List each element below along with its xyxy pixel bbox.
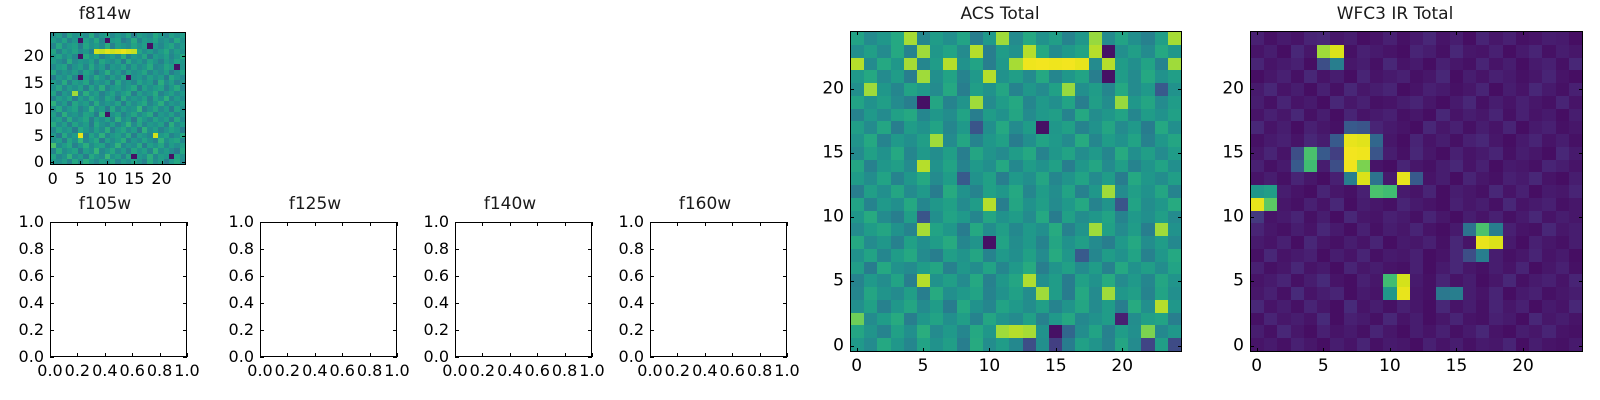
x-tick-label: 0.2 [275, 363, 300, 379]
y-tick-mark-right [182, 109, 186, 110]
x-tick-label: 0.2 [470, 363, 495, 379]
y-tick-mark [260, 249, 264, 250]
x-tick-mark [162, 161, 163, 165]
y-tick-mark-right [1579, 217, 1583, 218]
x-tick-mark-top [1056, 31, 1057, 35]
x-tick-mark-top [80, 32, 81, 36]
x-tick-mark-top [857, 31, 858, 35]
x-tick-mark-top [107, 32, 108, 36]
y-tick-mark [50, 222, 54, 223]
panel-title-f125w: f125w [210, 196, 420, 213]
y-tick-mark-right [588, 330, 592, 331]
x-tick-mark [989, 348, 990, 352]
y-tick-label: 10 [0, 101, 44, 117]
x-tick-mark-top [187, 222, 188, 226]
x-tick-mark [134, 161, 135, 165]
y-tick-label: 0.8 [405, 241, 449, 257]
x-tick-mark [732, 353, 733, 357]
y-tick-mark-right [588, 357, 592, 358]
x-tick-label: 20 [1512, 358, 1534, 375]
y-tick-mark [850, 346, 854, 347]
y-tick-mark [50, 162, 54, 163]
x-tick-label: 0.4 [497, 363, 522, 379]
panel-f160w: f160w 0.00.20.40.60.81.00.00.20.40.60.81… [600, 190, 810, 400]
x-tick-label: 15 [1045, 358, 1067, 375]
y-tick-label: 0.4 [0, 295, 44, 311]
y-tick-mark [260, 276, 264, 277]
axes-acs-total [850, 31, 1182, 352]
x-tick-mark [342, 353, 343, 357]
x-tick-mark [107, 161, 108, 165]
y-tick-mark [50, 303, 54, 304]
x-tick-mark-top [105, 222, 106, 226]
x-tick-mark [923, 348, 924, 352]
y-tick-mark [50, 136, 54, 137]
x-tick-mark [187, 353, 188, 357]
y-tick-mark-right [783, 276, 787, 277]
x-tick-mark-top [677, 222, 678, 226]
x-tick-mark [565, 353, 566, 357]
y-tick-mark-right [393, 357, 397, 358]
x-tick-label: 0.2 [665, 363, 690, 379]
y-tick-label: 0.0 [0, 349, 44, 365]
y-tick-label: 0.4 [600, 295, 644, 311]
x-tick-label: 0.4 [692, 363, 717, 379]
x-tick-mark-top [1456, 31, 1457, 35]
x-tick-label: 0.8 [747, 363, 772, 379]
x-tick-label: 0 [1251, 358, 1262, 375]
x-tick-label: 0.8 [357, 363, 382, 379]
y-tick-label: 0.2 [405, 322, 449, 338]
y-tick-label: 5 [800, 273, 844, 290]
y-tick-label: 15 [800, 144, 844, 161]
y-tick-label: 1.0 [600, 214, 644, 230]
x-tick-label: 0.4 [302, 363, 327, 379]
y-tick-label: 10 [1190, 209, 1244, 226]
axes-f160w [650, 222, 787, 357]
y-tick-mark [50, 249, 54, 250]
y-tick-mark-right [182, 56, 186, 57]
x-tick-label: 10 [97, 171, 117, 187]
y-tick-mark [260, 357, 264, 358]
panel-title-wfc3-ir-total: WFC3 IR Total [1190, 6, 1600, 23]
y-tick-mark-right [1178, 217, 1182, 218]
x-tick-mark [592, 353, 593, 357]
y-tick-label: 5 [1190, 273, 1244, 290]
axes-f814w [50, 32, 186, 165]
x-tick-mark [370, 353, 371, 357]
y-tick-mark [650, 330, 654, 331]
y-tick-mark-right [393, 330, 397, 331]
y-tick-label: 5 [0, 128, 44, 144]
y-tick-mark-right [588, 249, 592, 250]
y-tick-mark [650, 276, 654, 277]
x-tick-mark [1122, 348, 1123, 352]
x-tick-label: 0.8 [552, 363, 577, 379]
y-tick-label: 1.0 [405, 214, 449, 230]
x-tick-mark-top [162, 32, 163, 36]
x-tick-label: 5 [918, 358, 929, 375]
x-tick-mark-top [705, 222, 706, 226]
x-tick-mark [677, 353, 678, 357]
y-tick-label: 0.8 [0, 241, 44, 257]
y-tick-mark-right [1579, 346, 1583, 347]
y-tick-mark-right [783, 249, 787, 250]
heatmap-image-f814w [51, 33, 185, 164]
y-tick-mark-right [783, 222, 787, 223]
y-tick-mark-right [183, 249, 187, 250]
x-tick-label: 0.6 [524, 363, 549, 379]
y-tick-label: 10 [800, 209, 844, 226]
y-tick-label: 0.6 [0, 268, 44, 284]
y-tick-mark [650, 303, 654, 304]
y-tick-mark-right [588, 276, 592, 277]
y-tick-label: 1.0 [210, 214, 254, 230]
x-tick-mark [705, 353, 706, 357]
x-tick-mark [1257, 348, 1258, 352]
x-tick-mark-top [482, 222, 483, 226]
y-tick-label: 0.2 [600, 322, 644, 338]
y-tick-mark-right [1178, 89, 1182, 90]
x-tick-label: 1.0 [774, 363, 799, 379]
x-tick-mark-top [397, 222, 398, 226]
x-tick-mark-top [1523, 31, 1524, 35]
x-tick-label: 20 [151, 171, 171, 187]
y-tick-mark [850, 89, 854, 90]
x-tick-mark-top [53, 32, 54, 36]
x-tick-mark-top [1122, 31, 1123, 35]
panel-wfc3-ir-total: WFC3 IR Total 0510152005101520 [1190, 0, 1600, 400]
x-tick-mark [537, 353, 538, 357]
x-tick-mark [1523, 348, 1524, 352]
y-tick-mark-right [1178, 153, 1182, 154]
x-tick-label: 0.4 [92, 363, 117, 379]
y-tick-mark-right [183, 276, 187, 277]
y-tick-mark-right [183, 303, 187, 304]
y-tick-mark-right [182, 136, 186, 137]
y-tick-label: 15 [0, 75, 44, 91]
x-tick-mark [1323, 348, 1324, 352]
y-tick-mark-right [1579, 89, 1583, 90]
x-tick-mark-top [537, 222, 538, 226]
panel-title-f160w: f160w [600, 196, 810, 213]
y-tick-label: 0.6 [405, 268, 449, 284]
x-tick-mark-top [370, 222, 371, 226]
y-tick-mark-right [182, 162, 186, 163]
x-tick-mark-top [989, 31, 990, 35]
axes-f105w [50, 222, 187, 357]
y-tick-mark [650, 249, 654, 250]
x-tick-label: 15 [1446, 358, 1468, 375]
x-tick-mark-top [342, 222, 343, 226]
x-tick-mark [1456, 348, 1457, 352]
x-tick-mark-top [732, 222, 733, 226]
y-tick-mark [455, 222, 459, 223]
axes-f125w [260, 222, 397, 357]
x-tick-label: 0.2 [65, 363, 90, 379]
x-tick-mark [287, 353, 288, 357]
y-tick-mark [50, 83, 54, 84]
y-tick-mark [260, 222, 264, 223]
y-tick-label: 0.0 [210, 349, 254, 365]
x-tick-mark-top [1257, 31, 1258, 35]
y-tick-mark [50, 357, 54, 358]
y-tick-mark [1250, 217, 1254, 218]
y-tick-mark [455, 330, 459, 331]
x-tick-mark-top [565, 222, 566, 226]
x-tick-mark-top [923, 31, 924, 35]
y-tick-mark [455, 249, 459, 250]
y-tick-mark-right [1579, 153, 1583, 154]
y-tick-label: 0.2 [0, 322, 44, 338]
y-tick-label: 20 [1190, 80, 1244, 97]
y-tick-label: 0.8 [210, 241, 254, 257]
x-tick-mark [77, 353, 78, 357]
y-tick-label: 0.8 [600, 241, 644, 257]
x-tick-mark-top [315, 222, 316, 226]
x-tick-mark [315, 353, 316, 357]
y-tick-mark [650, 222, 654, 223]
y-tick-mark-right [393, 249, 397, 250]
y-tick-label: 0.0 [600, 349, 644, 365]
y-tick-mark-right [588, 222, 592, 223]
panel-acs-total: ACS Total 0510152005101520 [800, 0, 1200, 400]
y-tick-mark-right [393, 303, 397, 304]
y-tick-mark [650, 357, 654, 358]
x-tick-label: 0.6 [329, 363, 354, 379]
x-tick-label: 0.6 [719, 363, 744, 379]
heatmap-image-acs-total [851, 32, 1181, 351]
panel-title-f140w: f140w [405, 196, 615, 213]
y-tick-label: 0 [800, 337, 844, 354]
y-tick-label: 1.0 [0, 214, 44, 230]
y-tick-mark-right [783, 357, 787, 358]
x-tick-mark [482, 353, 483, 357]
x-tick-label: 10 [979, 358, 1001, 375]
x-tick-label: 1.0 [174, 363, 199, 379]
panel-title-acs-total: ACS Total [800, 6, 1200, 23]
y-tick-label: 0.6 [600, 268, 644, 284]
axes-f140w [455, 222, 592, 357]
x-tick-mark-top [1323, 31, 1324, 35]
y-tick-mark [1250, 89, 1254, 90]
x-tick-mark-top [132, 222, 133, 226]
panel-f125w: f125w 0.00.20.40.60.81.00.00.20.40.60.81… [210, 190, 420, 400]
x-tick-mark-top [1390, 31, 1391, 35]
y-tick-mark [455, 357, 459, 358]
y-tick-mark [1250, 346, 1254, 347]
y-tick-label: 20 [800, 80, 844, 97]
y-tick-mark-right [1579, 281, 1583, 282]
matplotlib-figure: f814w 0510152005101520 f105w 0.00.20.40.… [0, 0, 1600, 400]
x-tick-mark-top [510, 222, 511, 226]
x-tick-label: 10 [1379, 358, 1401, 375]
x-tick-mark-top [287, 222, 288, 226]
x-tick-label: 0 [851, 358, 862, 375]
x-tick-mark [510, 353, 511, 357]
panel-title-f105w: f105w [0, 196, 210, 213]
x-tick-mark [80, 161, 81, 165]
panel-f814w: f814w 0510152005101520 [0, 0, 210, 190]
x-tick-label: 0.6 [119, 363, 144, 379]
y-tick-mark [50, 330, 54, 331]
y-tick-mark [260, 330, 264, 331]
y-tick-mark [50, 276, 54, 277]
x-tick-mark [1390, 348, 1391, 352]
x-tick-label: 5 [1318, 358, 1329, 375]
y-tick-mark-right [183, 330, 187, 331]
y-tick-mark [50, 109, 54, 110]
y-tick-label: 0.0 [405, 349, 449, 365]
x-tick-label: 20 [1111, 358, 1133, 375]
y-tick-mark-right [393, 276, 397, 277]
x-tick-mark [105, 353, 106, 357]
x-tick-mark-top [787, 222, 788, 226]
y-tick-mark [850, 281, 854, 282]
y-tick-mark-right [183, 222, 187, 223]
x-tick-mark [160, 353, 161, 357]
x-tick-mark [857, 348, 858, 352]
x-tick-mark-top [134, 32, 135, 36]
y-tick-mark [455, 276, 459, 277]
x-tick-mark-top [77, 222, 78, 226]
y-tick-mark-right [183, 357, 187, 358]
x-tick-mark-top [160, 222, 161, 226]
x-tick-label: 0 [48, 171, 58, 187]
y-tick-mark [1250, 153, 1254, 154]
x-tick-mark [1056, 348, 1057, 352]
x-tick-mark-top [760, 222, 761, 226]
y-tick-label: 0.2 [210, 322, 254, 338]
y-tick-mark-right [783, 303, 787, 304]
x-tick-mark [132, 353, 133, 357]
y-tick-mark [50, 56, 54, 57]
y-tick-mark [1250, 281, 1254, 282]
y-tick-mark [455, 303, 459, 304]
x-tick-label: 15 [124, 171, 144, 187]
y-tick-mark-right [783, 330, 787, 331]
panel-title-f814w: f814w [0, 6, 210, 23]
x-tick-mark [760, 353, 761, 357]
y-tick-label: 20 [0, 48, 44, 64]
y-tick-label: 0.4 [210, 295, 254, 311]
y-tick-mark [850, 153, 854, 154]
y-tick-mark-right [393, 222, 397, 223]
y-tick-mark [850, 217, 854, 218]
y-tick-label: 0 [1190, 337, 1244, 354]
panel-f140w: f140w 0.00.20.40.60.81.00.00.20.40.60.81… [405, 190, 615, 400]
y-tick-mark-right [1178, 346, 1182, 347]
x-tick-label: 0.8 [147, 363, 172, 379]
heatmap-image-wfc3-ir-total [1251, 32, 1582, 351]
x-tick-mark-top [592, 222, 593, 226]
axes-wfc3-ir-total [1250, 31, 1583, 352]
y-tick-mark [260, 303, 264, 304]
y-tick-mark-right [1178, 281, 1182, 282]
y-tick-label: 15 [1190, 144, 1244, 161]
x-tick-label: 5 [75, 171, 85, 187]
x-tick-mark [397, 353, 398, 357]
y-tick-label: 0.6 [210, 268, 254, 284]
y-tick-mark-right [182, 83, 186, 84]
y-tick-label: 0.4 [405, 295, 449, 311]
panel-f105w: f105w 0.00.20.40.60.81.00.00.20.40.60.81… [0, 190, 210, 400]
y-tick-mark-right [588, 303, 592, 304]
y-tick-label: 0 [0, 154, 44, 170]
x-tick-mark [787, 353, 788, 357]
